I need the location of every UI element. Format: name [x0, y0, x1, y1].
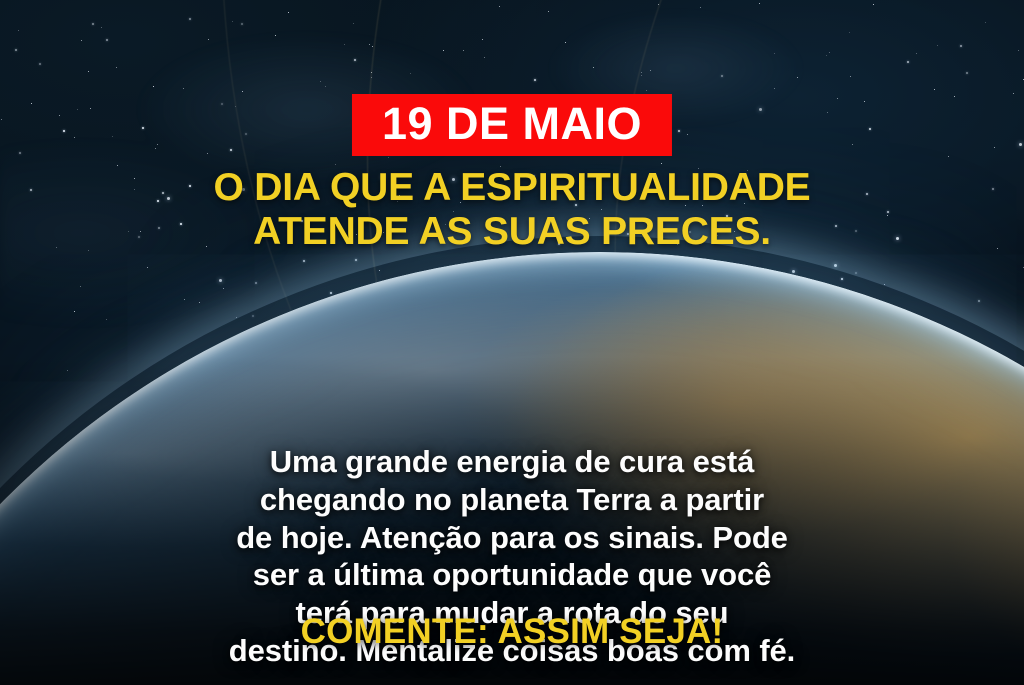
date-banner: 19 DE MAIO	[352, 94, 672, 156]
headline-line-2: ATENDE AS SUAS PRECES.	[32, 210, 992, 254]
body-copy-line-3: de hoje. Atenção para os sinais. Pode	[42, 519, 982, 557]
headline-line-1: O DIA QUE A ESPIRITUALIDADE	[32, 166, 992, 210]
social-media-poster: 19 DE MAIO O DIA QUE A ESPIRITUALIDADE A…	[0, 0, 1024, 685]
date-banner-text: 19 DE MAIO	[382, 101, 642, 146]
body-copy-line-1: Uma grande energia de cura está	[42, 443, 982, 481]
body-copy-line-4: ser a última oportunidade que você	[42, 556, 982, 594]
call-to-action-text: COMENTE: ASSIM SEJA!	[0, 612, 1024, 652]
poster-content: 19 DE MAIO O DIA QUE A ESPIRITUALIDADE A…	[0, 0, 1024, 685]
body-copy-line-2: chegando no planeta Terra a partir	[42, 481, 982, 519]
page-title: O DIA QUE A ESPIRITUALIDADE ATENDE AS SU…	[0, 166, 1024, 253]
